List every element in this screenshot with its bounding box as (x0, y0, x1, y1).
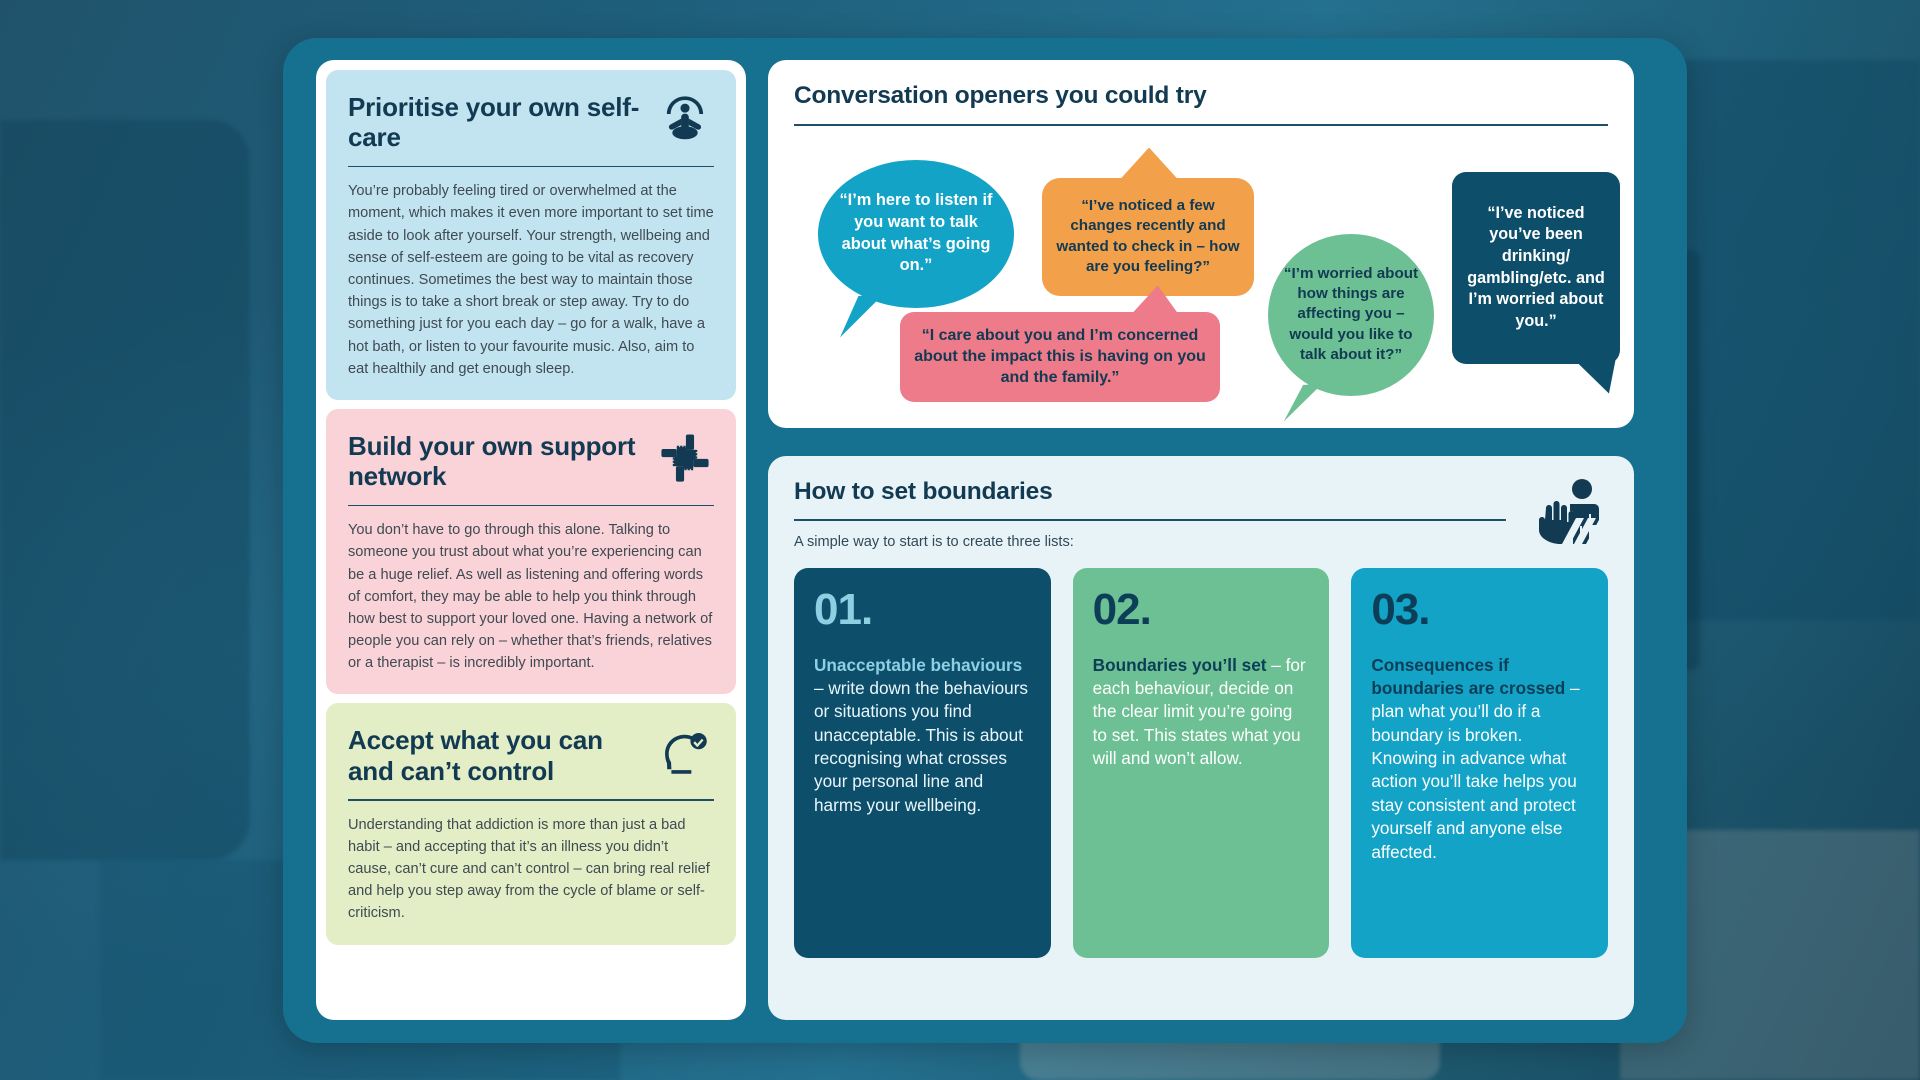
step-lead: Consequences if boundaries are crossed (1371, 655, 1565, 698)
speech-bubble-text: “I care about you and I’m concerned abou… (900, 325, 1220, 389)
card-header: Accept what you can and can’t control (348, 725, 714, 786)
step-number: 02. (1093, 588, 1310, 632)
section-conversation-openers: Conversation openers you could try “I’m … (768, 60, 1634, 428)
four-helping-hands-icon (656, 429, 714, 487)
speech-bubble-text: “I’m here to listen if you want to talk … (818, 190, 1014, 277)
background-shape (0, 120, 250, 860)
step-body: Unacceptable behaviours – write down the… (814, 654, 1031, 818)
card-title: Build your own support network (348, 431, 646, 492)
page-root: Prioritise your own self-care You’re pro… (0, 0, 1920, 1080)
step-card-03: 03. Consequences if boundaries are cross… (1351, 568, 1608, 958)
speech-bubble-text: “I’ve noticed a few changes recently and… (1042, 196, 1254, 277)
divider (348, 799, 714, 801)
stop-hand-person-icon (1524, 478, 1608, 548)
card-header: Prioritise your own self-care (348, 92, 714, 153)
section-title: How to set boundaries (794, 478, 1053, 506)
boundary-steps: 01. Unacceptable behaviours – write down… (794, 568, 1608, 958)
card-accept-control: Accept what you can and can’t control Un… (326, 703, 736, 944)
step-rest: – plan what you’ll do if a boundary is b… (1371, 678, 1579, 862)
card-body: Understanding that addiction is more tha… (348, 814, 714, 925)
right-column: Conversation openers you could try “I’m … (768, 60, 1634, 1020)
step-card-02: 02. Boundaries you’ll set – for each beh… (1073, 568, 1330, 958)
speech-bubble-text: “I’ve noticed you’ve been drinking/ gamb… (1452, 203, 1620, 332)
card-self-care: Prioritise your own self-care You’re pro… (326, 70, 736, 400)
section-set-boundaries: How to set boundaries A simple way to st… (768, 456, 1634, 1020)
card-header: Build your own support network (348, 431, 714, 492)
speech-bubble-drinking: “I’ve noticed you’ve been drinking/ gamb… (1452, 172, 1620, 364)
section-header: How to set boundaries (794, 478, 1608, 506)
card-support-network: Build your own support network (326, 409, 736, 695)
card-body: You don’t have to go through this alone.… (348, 519, 714, 674)
speech-bubble-listen: “I’m here to listen if you want to talk … (818, 160, 1014, 308)
step-number: 01. (814, 588, 1031, 632)
step-lead: Unacceptable behaviours (814, 655, 1022, 675)
divider (794, 519, 1506, 521)
step-body: Boundaries you’ll set – for each behavio… (1093, 654, 1310, 771)
meditation-person-icon (656, 90, 714, 148)
speech-bubble-worried: “I’m worried about how things are affect… (1268, 234, 1434, 396)
speech-bubble-group: “I’m here to listen if you want to talk … (794, 126, 1608, 394)
card-body: You’re probably feeling tired or overwhe… (348, 180, 714, 380)
divider (348, 505, 714, 507)
divider (348, 166, 714, 168)
head-with-check-icon (656, 723, 714, 781)
section-subtitle: A simple way to start is to create three… (794, 534, 1608, 550)
step-body: Consequences if boundaries are crossed –… (1371, 654, 1588, 865)
speech-bubble-noticed-changes: “I’ve noticed a few changes recently and… (1042, 178, 1254, 296)
card-title: Accept what you can and can’t control (348, 725, 646, 786)
card-title: Prioritise your own self-care (348, 92, 646, 153)
speech-bubble-i-care: “I care about you and I’m concerned abou… (900, 312, 1220, 402)
step-rest: – write down the behaviours or situation… (814, 678, 1028, 815)
step-number: 03. (1371, 588, 1588, 632)
left-column: Prioritise your own self-care You’re pro… (316, 60, 746, 1020)
speech-bubble-text: “I’m worried about how things are affect… (1268, 264, 1434, 365)
step-lead: Boundaries you’ll set (1093, 655, 1267, 675)
step-card-01: 01. Unacceptable behaviours – write down… (794, 568, 1051, 958)
section-title: Conversation openers you could try (794, 82, 1608, 110)
